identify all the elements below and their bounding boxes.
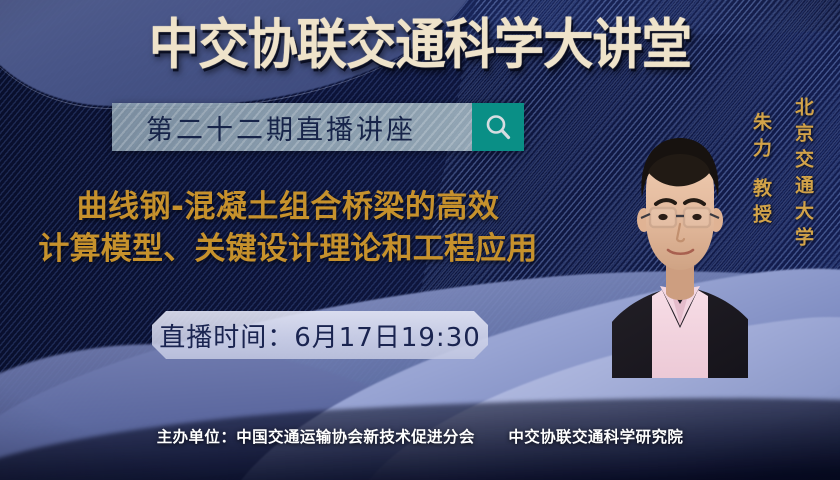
speaker-name: 朱力 教授 bbox=[748, 112, 775, 230]
speaker-affiliation: 北京交通大学 bbox=[790, 97, 817, 253]
speaker-portrait bbox=[612, 128, 748, 378]
lecture-topic: 曲线钢-混凝土组合桥梁的高效 计算模型、关键设计理论和工程应用 bbox=[0, 186, 576, 270]
lecture-topic-line-2: 计算模型、关键设计理论和工程应用 bbox=[0, 228, 576, 270]
footer-organizers: 主办单位：中国交通运输协会新技术促进分会 中交协联交通科学研究院 bbox=[0, 425, 840, 447]
live-lecture-poster: 中交协联交通科学大讲堂 第二十二期直播讲座 曲线钢-混凝土组合桥梁的高效 计算模… bbox=[0, 0, 840, 480]
footer-organizer-2: 中交协联交通科学研究院 bbox=[508, 428, 683, 446]
broadcast-time-badge: 直播时间：6月17日19:30 bbox=[152, 311, 488, 359]
episode-label: 第二十二期直播讲座 bbox=[146, 108, 438, 147]
broadcast-time-label: 直播时间：6月17日19:30 bbox=[159, 317, 481, 354]
search-icon[interactable] bbox=[472, 103, 524, 151]
footer-organizer-1: 主办单位：中国交通运输协会新技术促进分会 bbox=[157, 428, 475, 446]
episode-banner-body: 第二十二期直播讲座 bbox=[112, 103, 472, 151]
episode-banner: 第二十二期直播讲座 bbox=[112, 103, 524, 151]
lecture-topic-line-1: 曲线钢-混凝土组合桥梁的高效 bbox=[0, 186, 576, 228]
page-title: 中交协联交通科学大讲堂 bbox=[29, 16, 810, 74]
